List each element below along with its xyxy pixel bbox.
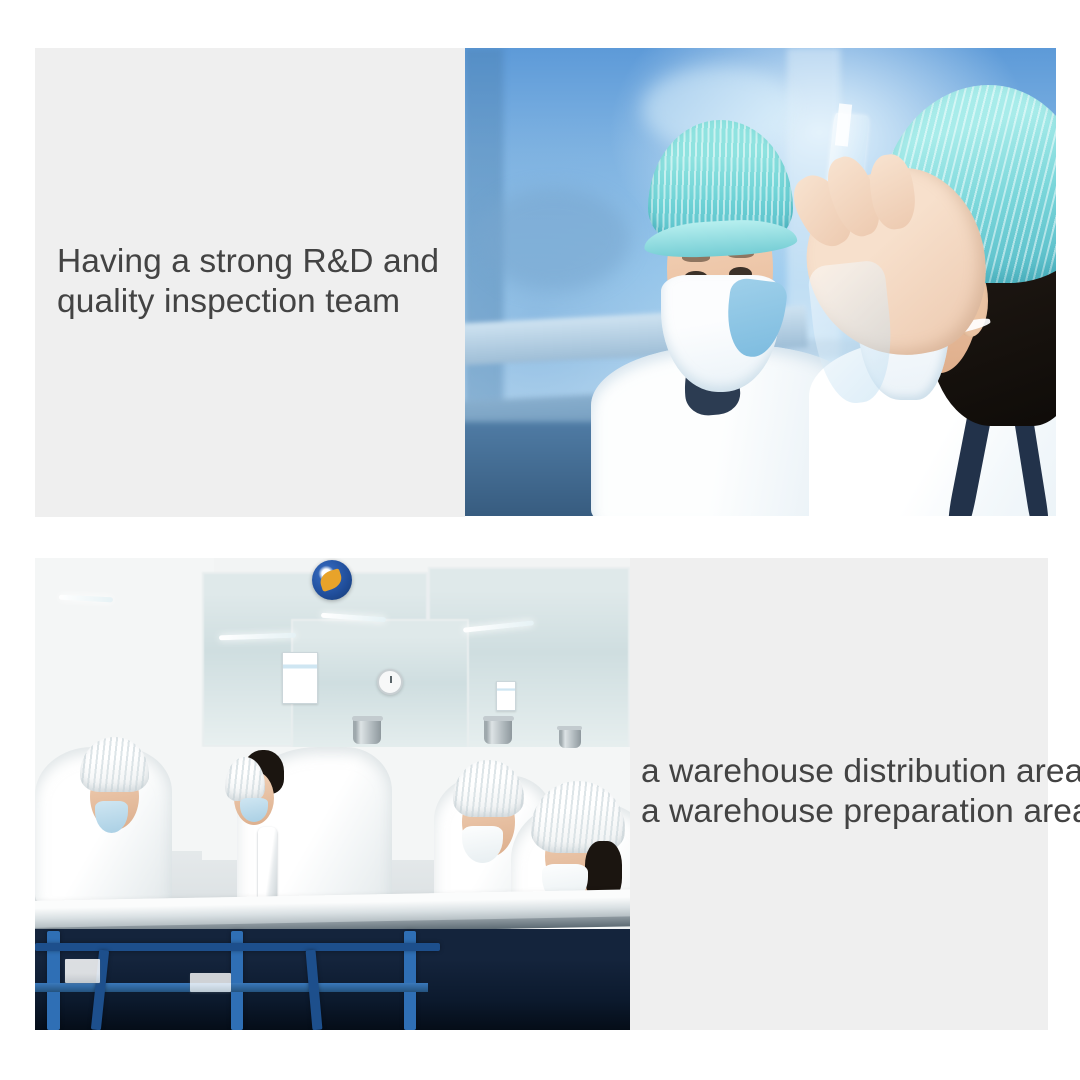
photo-warehouse-packing [35, 558, 630, 1030]
caption-line-2: a warehouse preparation area [641, 792, 1080, 832]
warehouse-worker-1 [35, 747, 172, 907]
photo-lab-quality-inspection [465, 48, 1056, 516]
wall-poster-1 [282, 652, 318, 704]
caption-rd-quality: Having a strong R&D and quality inspecti… [57, 242, 439, 322]
steel-container-1 [353, 718, 381, 744]
caption-line-1: Having a strong R&D and [57, 242, 439, 282]
steel-container-2 [484, 718, 512, 744]
product-bottle [258, 827, 277, 898]
carton-under-table-2 [190, 973, 232, 992]
table-rail-upper [35, 943, 440, 951]
steel-container-3 [559, 728, 581, 748]
carton-under-table-1 [65, 959, 101, 983]
caption-line-2: quality inspection team [57, 282, 439, 322]
slide-canvas: Having a strong R&D and quality inspecti… [0, 0, 1080, 1080]
caption-line-1: a warehouse distribution area [641, 752, 1080, 792]
wall-clock-icon [377, 669, 403, 695]
company-logo-icon [312, 560, 352, 600]
caption-warehouse: a warehouse distribution area a warehous… [641, 752, 1080, 832]
lab-equipment-blur-1 [477, 188, 631, 291]
wall-poster-2 [496, 681, 516, 711]
